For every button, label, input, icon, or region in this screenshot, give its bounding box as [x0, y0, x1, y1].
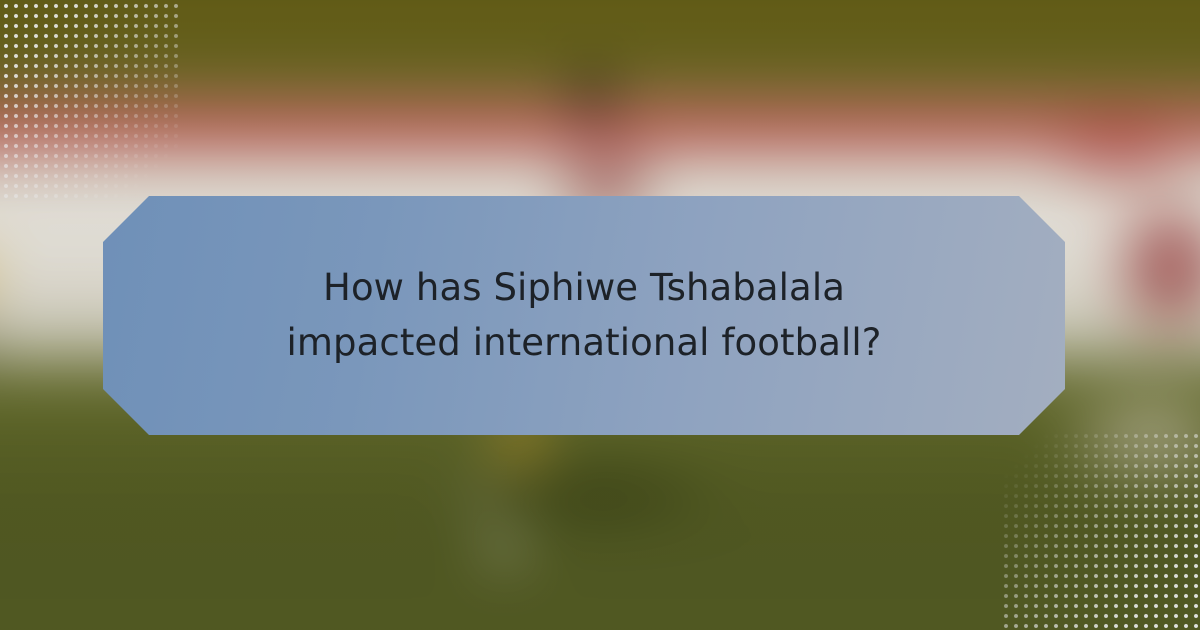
question-card: How has Siphiwe Tshabalala impacted inte… — [103, 196, 1065, 435]
halftone-dots-top-left — [0, 0, 180, 200]
share-card-canvas: How has Siphiwe Tshabalala impacted inte… — [0, 0, 1200, 630]
question-text: How has Siphiwe Tshabalala impacted inte… — [244, 261, 924, 369]
halftone-dots-bottom-right — [1000, 430, 1200, 630]
